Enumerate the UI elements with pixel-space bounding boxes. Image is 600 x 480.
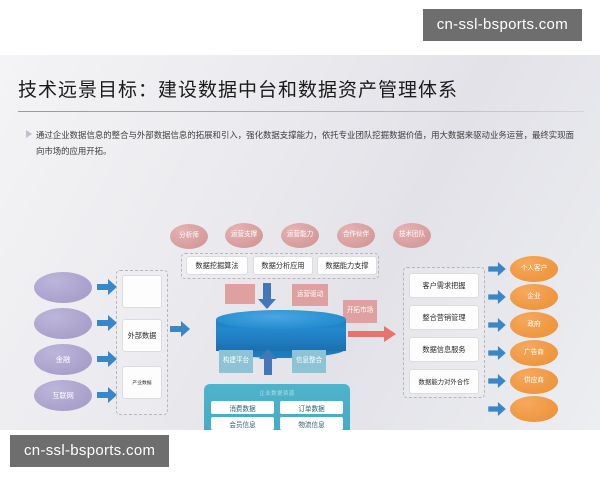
- external-data-card: 产业数据: [122, 366, 162, 399]
- output-card: 整合营销管理: [409, 305, 479, 330]
- operation-driven-label: 运营驱动: [292, 284, 328, 306]
- role-circle: 合作伙伴: [337, 223, 375, 248]
- capability-card: 数据能力支撑: [317, 256, 377, 275]
- arrow-right-icon: [348, 326, 396, 342]
- source-ellipse: [34, 308, 92, 339]
- audience-ellipse: 广告商: [510, 340, 558, 366]
- role-circle: 运营能力: [281, 223, 319, 248]
- source-ellipse: 互联网: [34, 380, 92, 411]
- enterprise-data-cell: 订单数据: [280, 401, 343, 414]
- arrow-right-icon: [97, 387, 117, 403]
- decorative-salmon-block: [225, 284, 255, 304]
- build-platform-label: 构建平台: [219, 350, 253, 373]
- cylinder-top: [216, 310, 346, 329]
- information-integration-label: 信息整合: [292, 350, 326, 373]
- enterprise-data-panel: 企业数据资源 消费数据 订单数据 会员信息 物流信息: [204, 384, 350, 430]
- source-ellipse: [34, 272, 92, 303]
- output-card: 数据能力对外合作: [409, 369, 479, 394]
- audience-ellipse: [510, 396, 558, 422]
- source-ellipse: 金融: [34, 344, 92, 375]
- arrow-right-icon: [170, 321, 190, 337]
- capability-card: 数据挖掘算法: [186, 256, 248, 275]
- output-card: 客户需求把握: [409, 273, 479, 298]
- arrow-right-icon: [488, 318, 506, 332]
- audience-ellipse: 企业: [510, 284, 558, 310]
- role-circle: 技术团队: [393, 223, 431, 248]
- audience-ellipse: 供应商: [510, 368, 558, 394]
- external-data-card: 外部数据: [122, 319, 162, 352]
- capability-card: 数据分析应用: [253, 256, 313, 275]
- arrow-right-icon: [97, 315, 117, 331]
- arrow-down-icon: [258, 283, 276, 309]
- arrow-right-icon: [488, 346, 506, 360]
- diagram: 分析师 运营支撑 运营能力 合作伙伴 技术团队 数据挖掘算法 数据分析应用 数据…: [0, 55, 600, 430]
- audience-ellipse: 政府: [510, 312, 558, 338]
- arrow-right-icon: [488, 262, 506, 276]
- external-data-card: [122, 275, 162, 308]
- audience-ellipse: 个人客户: [510, 256, 558, 282]
- output-card: 数据信息服务: [409, 337, 479, 362]
- watermark-top: cn-ssl-bsports.com: [423, 9, 582, 41]
- enterprise-panel-title: 企业数据资源: [204, 389, 350, 397]
- arrow-right-icon: [488, 402, 506, 416]
- role-circle: 运营支撑: [225, 223, 263, 248]
- enterprise-data-cell: 会员信息: [211, 417, 274, 430]
- arrow-right-icon: [488, 290, 506, 304]
- arrow-up-icon: [259, 349, 277, 375]
- enterprise-data-cell: 消费数据: [211, 401, 274, 414]
- slide: 技术远景目标：建设数据中台和数据资产管理体系 通过企业数据信息的整合与外部数据信…: [0, 55, 600, 430]
- arrow-right-icon: [97, 351, 117, 367]
- watermark-bottom: cn-ssl-bsports.com: [10, 435, 169, 467]
- role-circle: 分析师: [170, 224, 208, 249]
- arrow-right-icon: [488, 374, 506, 388]
- market-expansion-label: 开拓市场: [343, 300, 377, 323]
- enterprise-data-grid: 消费数据 订单数据 会员信息 物流信息: [211, 401, 343, 430]
- enterprise-data-cell: 物流信息: [280, 417, 343, 430]
- arrow-right-icon: [97, 279, 117, 295]
